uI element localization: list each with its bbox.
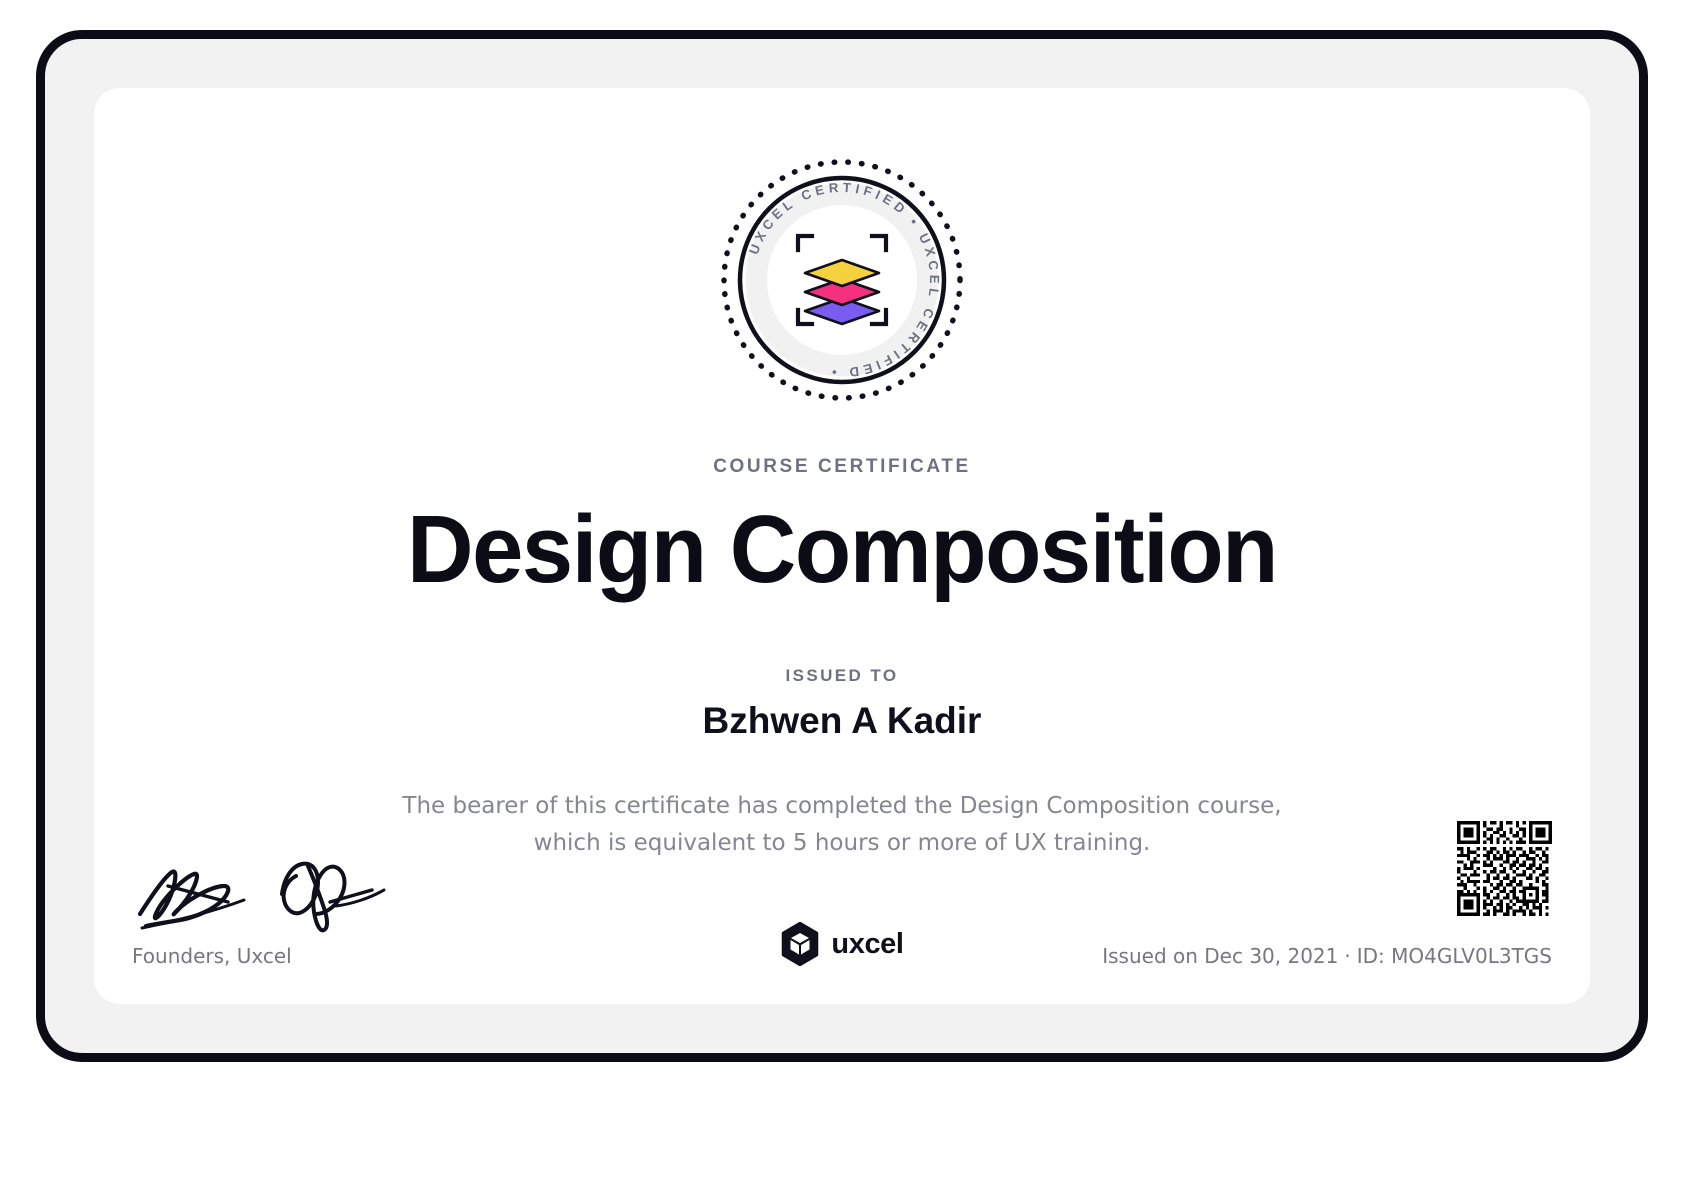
verification-qr-code[interactable] [1457,821,1552,916]
recipient-name: Bzhwen A Kadir [94,700,1590,742]
certificate-meta: Issued on Dec 30, 2021·ID: MO4GLV0L3TGS [1102,821,1552,968]
uxcel-hexagon-icon [780,922,820,966]
uxcel-wordmark: uxcel [831,928,903,961]
issued-to-label: ISSUED TO [94,666,1590,686]
course-title: Design Composition [124,498,1560,602]
certificate-frame: UXCEL CERTIFIED • UXCEL CERTIFIED • [36,30,1648,1062]
issued-on-text: Issued on Dec 30, 2021 [1102,944,1338,968]
seal-container: UXCEL CERTIFIED • UXCEL CERTIFIED • [94,154,1590,406]
eyebrow-label: COURSE CERTIFICATE [94,456,1590,478]
certificate-card: UXCEL CERTIFIED • UXCEL CERTIFIED • [94,88,1590,1004]
certificate-id-text: ID: MO4GLV0L3TGS [1357,944,1552,968]
meta-separator: · [1338,944,1356,968]
issue-meta-line: Issued on Dec 30, 2021·ID: MO4GLV0L3TGS [1102,944,1552,968]
uxcel-certified-seal: UXCEL CERTIFIED • UXCEL CERTIFIED • [716,154,968,406]
certificate-footer: Founders, Uxcel uxcel [94,784,1590,1004]
